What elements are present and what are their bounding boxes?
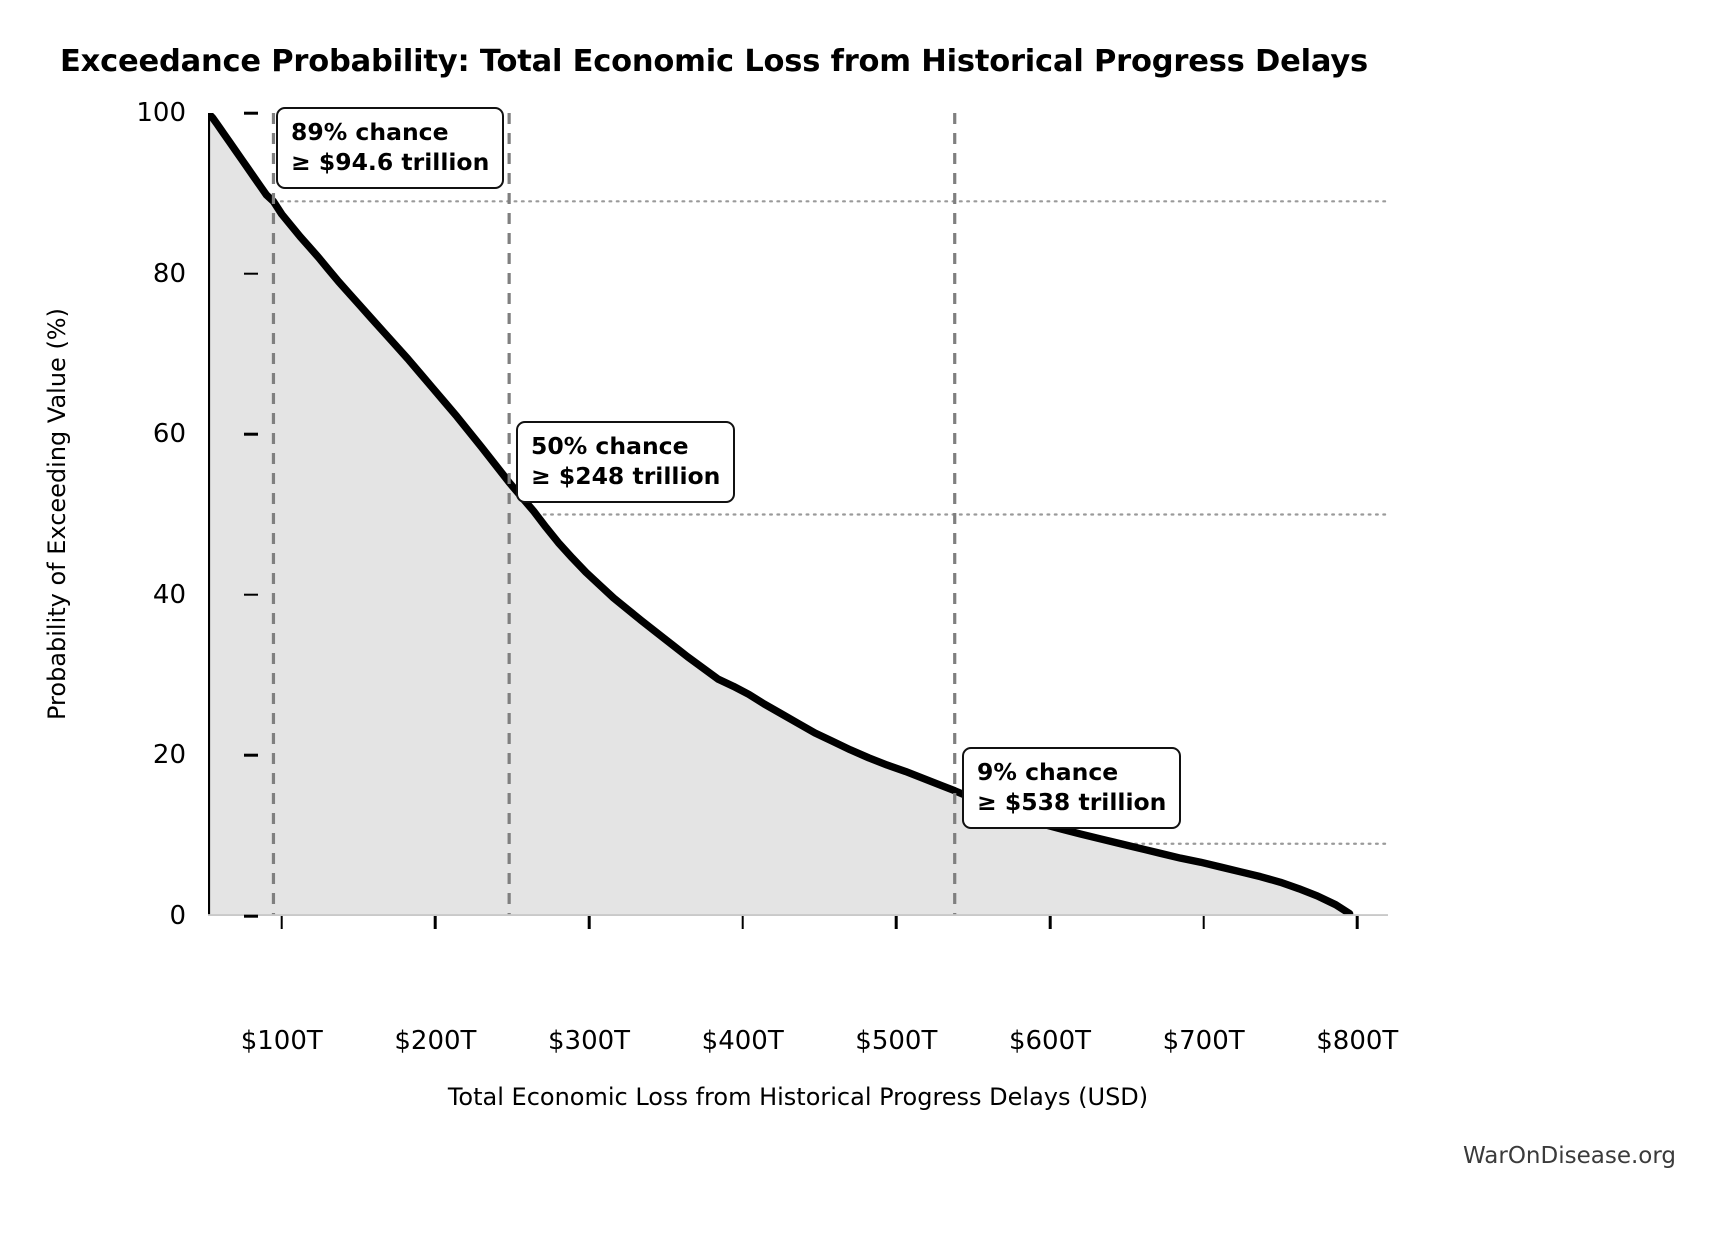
y-axis-tick-mark — [244, 112, 258, 115]
x-axis-tick-mark — [434, 916, 437, 929]
x-axis-tick-mark — [1356, 916, 1359, 929]
annotation-callout-50pct: 50% chance ≥ $248 trillion — [516, 421, 735, 503]
y-axis-tick-label: 60 — [66, 419, 186, 449]
annotation-callout-9pct: 9% chance ≥ $538 trillion — [962, 747, 1181, 829]
y-axis-tick-mark — [244, 272, 258, 275]
footer-credit: WarOnDisease.org — [1463, 1143, 1676, 1169]
page-title: Exceedance Probability: Total Economic L… — [60, 44, 1700, 79]
x-axis-tick-mark — [1202, 916, 1205, 929]
x-axis-tick-mark — [588, 916, 591, 929]
x-axis-title: Total Economic Loss from Historical Prog… — [208, 1083, 1388, 1111]
x-axis-tick-marks — [208, 916, 1388, 930]
y-axis-tick-mark — [244, 594, 258, 597]
x-axis-tick-label: $300T — [548, 1026, 630, 1056]
annotation-line-1: 50% chance — [531, 431, 720, 461]
x-axis-tick-label: $200T — [394, 1026, 476, 1056]
x-axis-tick-mark — [741, 916, 744, 929]
annotation-line-2: ≥ $538 trillion — [977, 787, 1166, 817]
y-axis-tick-label: 100 — [66, 98, 186, 128]
chart-figure: Exceedance Probability: Total Economic L… — [0, 0, 1736, 1234]
plot-area — [208, 113, 1388, 916]
y-axis-tick-label: 20 — [66, 740, 186, 770]
x-axis-tick-mark — [1049, 916, 1052, 929]
x-axis-tick-label: $600T — [1009, 1026, 1091, 1056]
y-axis-tick-mark — [244, 433, 258, 436]
x-axis-tick-labels: $100T$200T$300T$400T$500T$600T$700T$800T — [208, 1026, 1388, 1066]
y-axis-tick-label: 40 — [66, 580, 186, 610]
x-axis-tick-label: $100T — [241, 1026, 323, 1056]
y-axis-tick-mark — [244, 754, 258, 757]
y-axis-tick-labels: 020406080100 — [58, 113, 186, 916]
annotation-callout-89pct: 89% chance ≥ $94.6 trillion — [276, 107, 504, 189]
annotation-line-1: 9% chance — [977, 757, 1166, 787]
x-axis-tick-label: $500T — [855, 1026, 937, 1056]
x-axis-tick-label: $800T — [1316, 1026, 1398, 1056]
x-axis-tick-mark — [895, 916, 898, 929]
y-axis-tick-label: 80 — [66, 259, 186, 289]
x-axis-tick-mark — [280, 916, 283, 929]
annotation-line-2: ≥ $94.6 trillion — [291, 147, 489, 177]
annotation-line-1: 89% chance — [291, 117, 489, 147]
y-axis-tick-label: 0 — [66, 901, 186, 931]
x-axis-tick-label: $400T — [702, 1026, 784, 1056]
x-axis-tick-label: $700T — [1163, 1026, 1245, 1056]
annotation-line-2: ≥ $248 trillion — [531, 461, 720, 491]
exceedance-curve-svg — [208, 113, 1388, 916]
